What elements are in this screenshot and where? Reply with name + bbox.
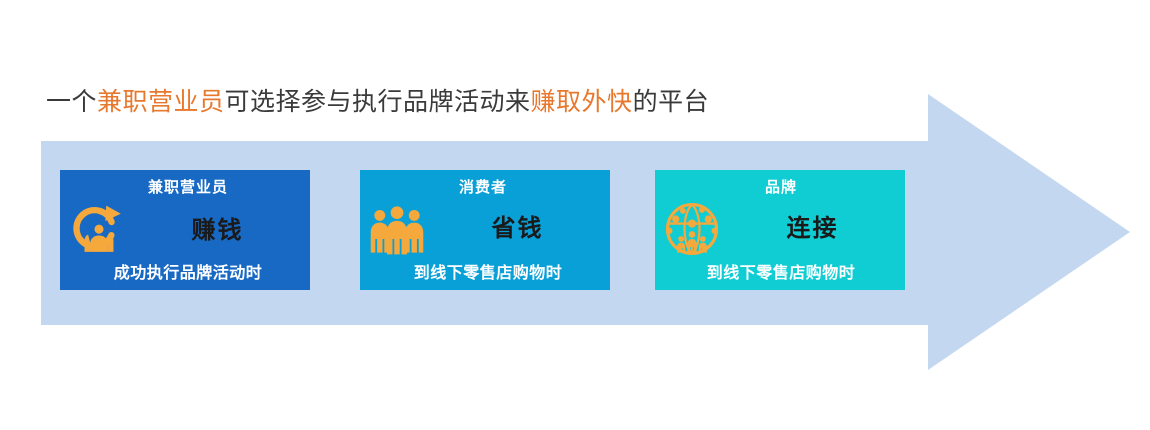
card-footer-part-time-clerk: 成功执行品牌活动时 (60, 259, 310, 283)
card-main-brand: 连接 (725, 208, 900, 243)
people-group-icon (368, 200, 426, 258)
headline-seg-1-highlight: 兼职营业员 (97, 89, 225, 116)
card-title-consumer: 消费者 (360, 176, 610, 197)
person-circular-arrow-icon (70, 202, 128, 260)
card-consumer[interactable]: 消费者 省钱 到线下零售店购物时 (360, 170, 610, 290)
globe-network-icon (663, 200, 721, 258)
card-main-consumer: 省钱 (430, 208, 605, 243)
card-title-part-time-clerk: 兼职营业员 (60, 176, 310, 197)
card-main-part-time-clerk: 赚钱 (130, 210, 305, 245)
headline-seg-0: 一个 (46, 89, 97, 116)
diagram-canvas: 一个兼职营业员可选择参与执行品牌活动来赚取外快的平台 兼职营业员 赚钱 成功执行… (0, 0, 1150, 430)
headline-seg-3-highlight: 赚取外快 (531, 89, 633, 116)
headline-seg-2: 可选择参与执行品牌活动来 (225, 89, 531, 116)
card-footer-brand: 到线下零售店购物时 (655, 259, 905, 283)
card-footer-consumer: 到线下零售店购物时 (360, 259, 610, 283)
card-title-brand: 品牌 (655, 176, 905, 197)
card-brand[interactable]: 品牌 连接 到线下零售店购物时 (655, 170, 905, 290)
headline-seg-4: 的平台 (633, 89, 710, 116)
page-title: 一个兼职营业员可选择参与执行品牌活动来赚取外快的平台 (46, 86, 709, 120)
card-part-time-clerk[interactable]: 兼职营业员 赚钱 成功执行品牌活动时 (60, 170, 310, 290)
